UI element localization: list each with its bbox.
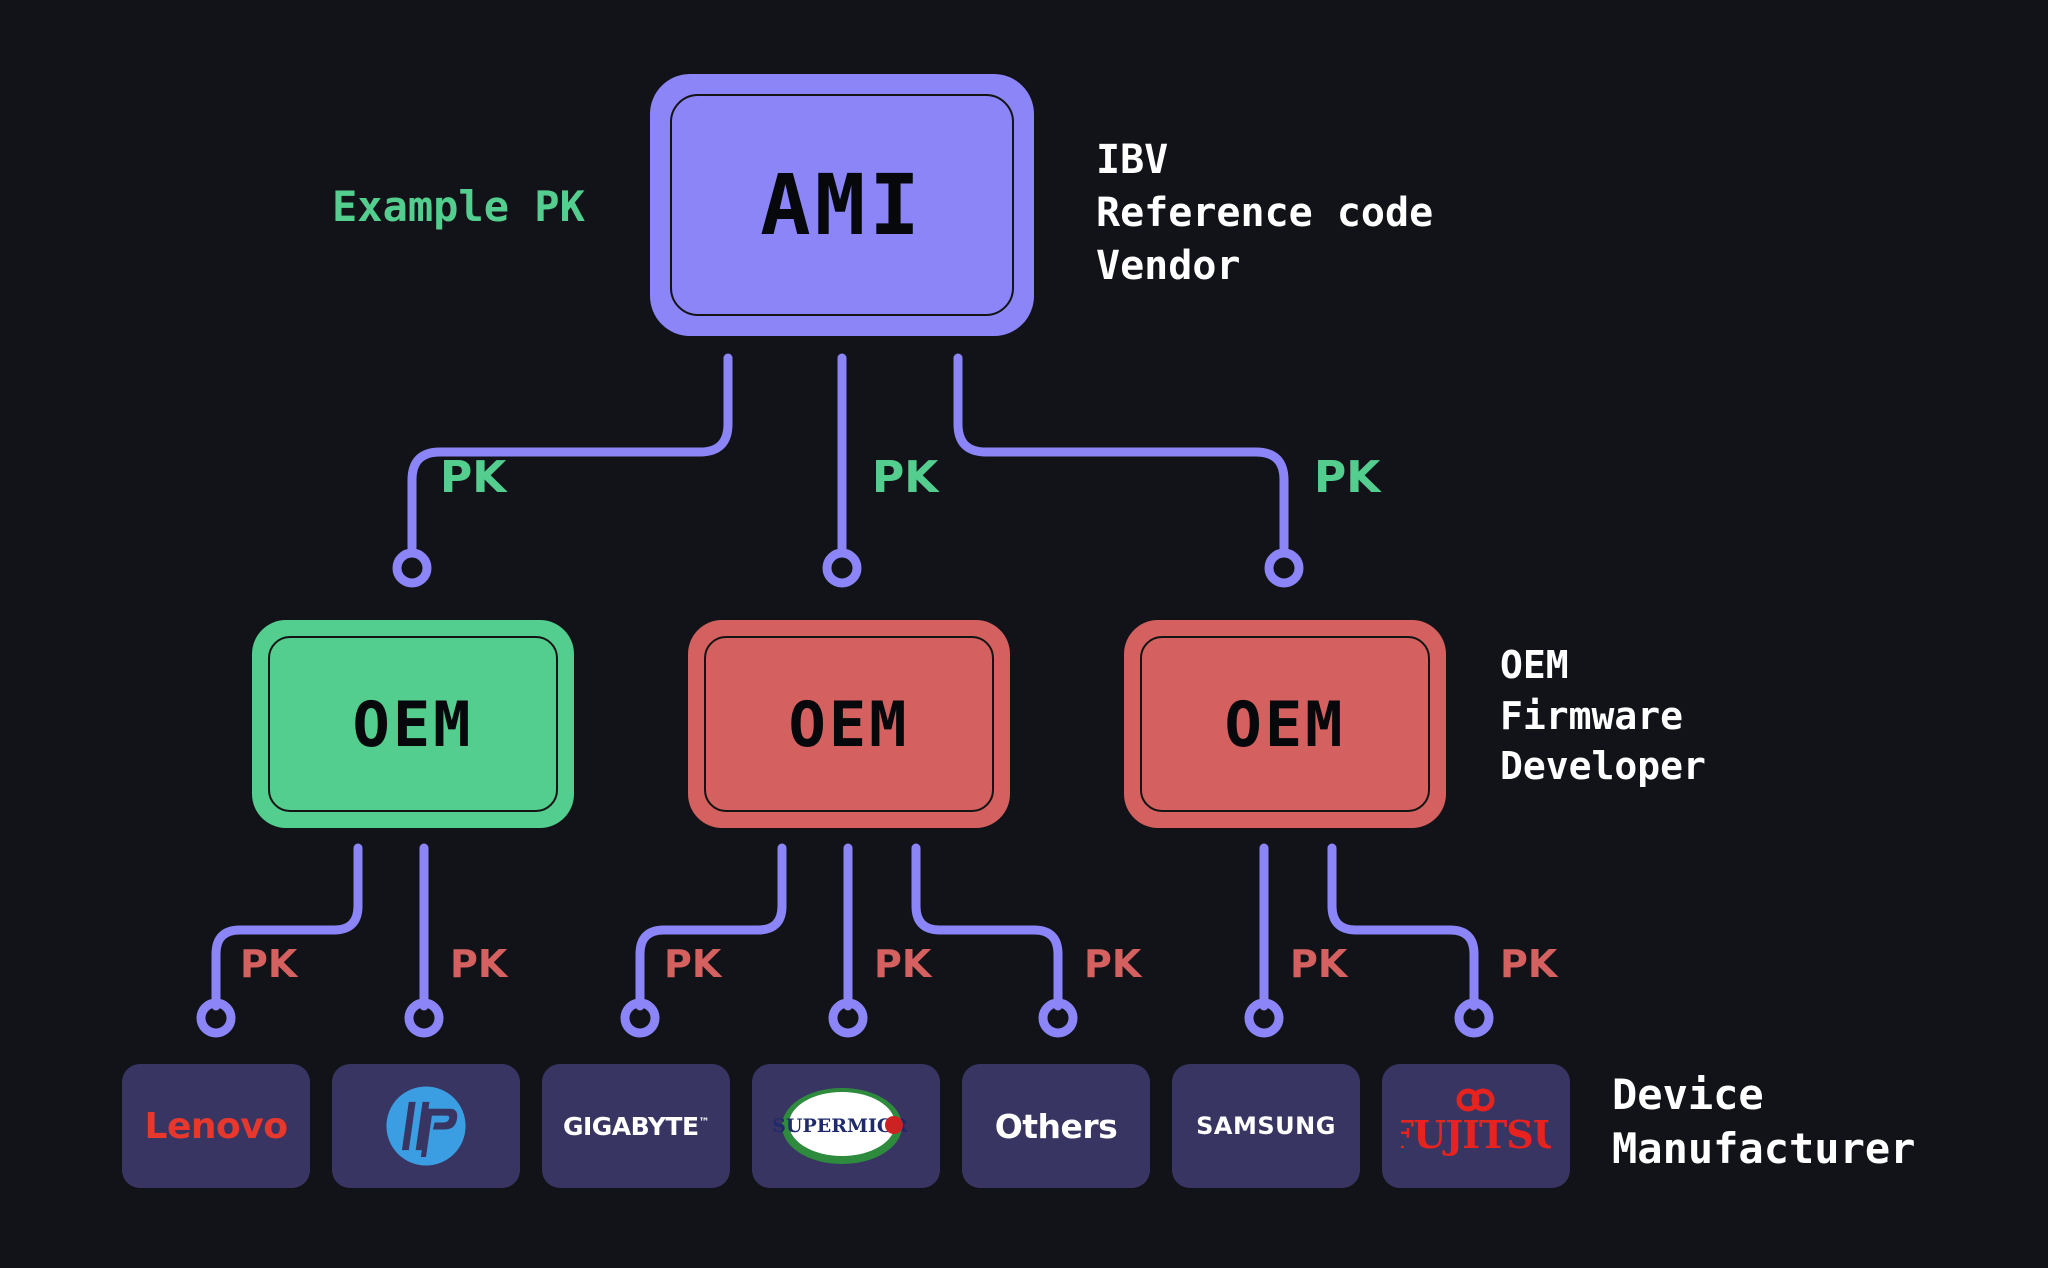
connector-ring-oem-1 — [397, 553, 427, 583]
connector-ring-gigabyte — [625, 1003, 655, 1033]
supermicro-ellipse-icon: SUPERMICR — [770, 1078, 922, 1174]
connector-ring-others — [1043, 1003, 1073, 1033]
connector-ring-fujitsu — [1459, 1003, 1489, 1033]
node-oem-3[interactable]: OEM — [1124, 620, 1446, 828]
vendor-tile-gigabyte[interactable]: GIGABYTE™ — [542, 1064, 730, 1188]
edge-label-pk-tier1-1: PK — [440, 452, 506, 503]
node-ami-label: AMI — [760, 156, 924, 254]
edge-label-pk-tier2-1: PK — [240, 942, 297, 986]
edge-label-pk-tier2-7: PK — [1500, 942, 1557, 986]
legend-example-pk: Example PK — [332, 182, 585, 231]
vendor-tile-supermicro[interactable]: SUPERMICR — [752, 1064, 940, 1188]
connector-ring-hp — [409, 1003, 439, 1033]
vendor-tile-lenovo[interactable]: Lenovo — [122, 1064, 310, 1188]
trademark-mark: ™ — [699, 1115, 710, 1128]
gigabyte-wordmark: GIGABYTE — [563, 1112, 699, 1141]
edge-label-pk-tier1-3: PK — [1314, 452, 1380, 503]
connector-ring-oem-2 — [827, 553, 857, 583]
edge-label-pk-tier2-5: PK — [1084, 942, 1141, 986]
vendor-tile-hp[interactable] — [332, 1064, 520, 1188]
node-oem-1-label: OEM — [353, 688, 474, 761]
samsung-logo: SAMSUNG — [1196, 1112, 1336, 1140]
edge-label-pk-tier2-6: PK — [1290, 942, 1347, 986]
node-oem-2[interactable]: OEM — [688, 620, 1010, 828]
connector-ring-oem-3 — [1269, 553, 1299, 583]
wire-oem2-to-others — [916, 848, 1058, 1006]
others-logo: Others — [995, 1107, 1118, 1146]
edge-label-pk-tier1-2: PK — [872, 452, 938, 503]
edge-label-pk-tier2-4: PK — [874, 942, 931, 986]
edge-label-pk-tier2-3: PK — [664, 942, 721, 986]
connector-ring-lenovo — [201, 1003, 231, 1033]
vendor-tile-samsung[interactable]: SAMSUNG — [1172, 1064, 1360, 1188]
fujitsu-logo: FUJITSU — [1401, 1078, 1551, 1174]
wire-oem3-to-fujitsu — [1332, 848, 1474, 1006]
connector-ring-supermicro — [833, 1003, 863, 1033]
node-ami[interactable]: AMI — [650, 74, 1034, 336]
node-oem-1[interactable]: OEM — [252, 620, 574, 828]
fujitsu-wordmark: FUJITSU — [1401, 1112, 1551, 1157]
hp-circle-icon — [383, 1083, 469, 1169]
vendor-tile-others[interactable]: Others — [962, 1064, 1150, 1188]
vendor-tile-fujitsu[interactable]: FUJITSU — [1382, 1064, 1570, 1188]
node-oem-2-label: OEM — [789, 688, 910, 761]
node-oem-3-label: OEM — [1225, 688, 1346, 761]
lenovo-logo: Lenovo — [145, 1106, 288, 1147]
diagram-canvas: AMI Example PK IBV Reference code Vendor… — [0, 0, 2048, 1268]
annotation-oem: OEM Firmware Developer — [1500, 640, 1706, 792]
connector-ring-samsung — [1249, 1003, 1279, 1033]
annotation-ibv: IBV Reference code Vendor — [1096, 134, 1433, 294]
gigabyte-logo: GIGABYTE™ — [563, 1112, 709, 1141]
wire-ami-to-oem-3 — [958, 358, 1284, 548]
edge-label-pk-tier2-2: PK — [450, 942, 507, 986]
annotation-device-manufacturer: Device Manufacturer — [1612, 1068, 1915, 1176]
